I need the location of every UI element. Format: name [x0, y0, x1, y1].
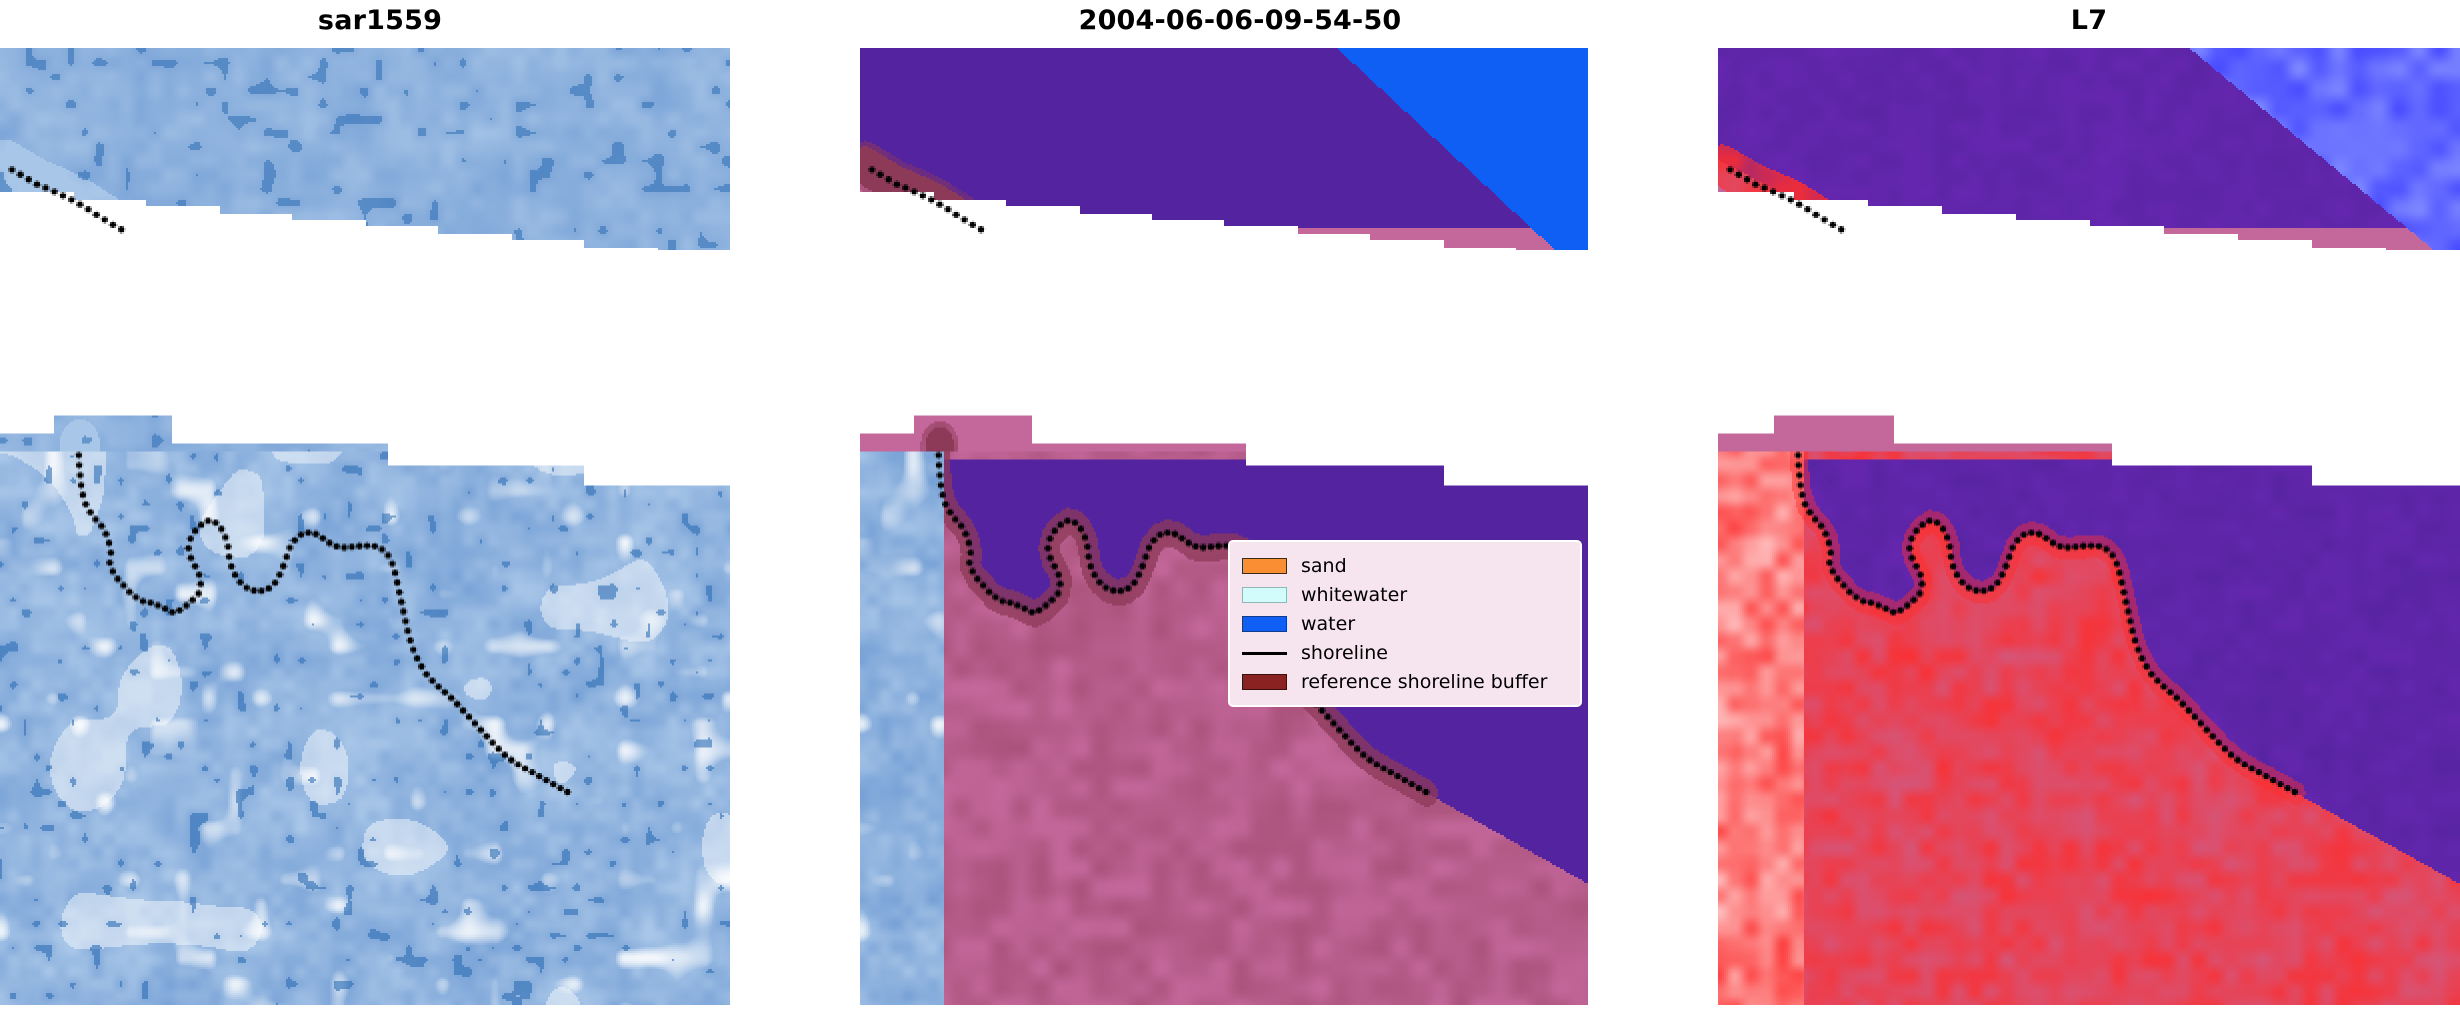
legend-item-water: water: [1242, 609, 1568, 638]
panel-title-l7: L7: [1718, 4, 2460, 38]
legend-swatch-reference-buffer-icon: [1242, 674, 1287, 690]
legend-label-water: water: [1301, 613, 1355, 635]
legend: sand whitewater water shoreline referenc…: [1228, 540, 1582, 707]
raster-canvas-classified: [860, 48, 1588, 1005]
raster-canvas-sar: [0, 48, 730, 1005]
legend-label-shoreline: shoreline: [1301, 642, 1388, 664]
legend-swatch-water-icon: [1242, 616, 1287, 632]
panel-title-classified: 2004-06-06-09-54-50: [860, 4, 1620, 38]
legend-item-sand: sand: [1242, 551, 1568, 580]
figure-root: sar1559 2004-06-06-09-54-50 L7 sand whit…: [0, 0, 2460, 1021]
legend-item-whitewater: whitewater: [1242, 580, 1568, 609]
legend-item-reference-buffer: reference shoreline buffer: [1242, 667, 1568, 696]
panel-classified: 2004-06-06-09-54-50: [860, 0, 1620, 1021]
panel-l7: L7: [1718, 0, 2460, 1021]
raster-sar: [0, 48, 730, 1005]
raster-canvas-l7: [1718, 48, 2460, 1005]
legend-swatch-whitewater-icon: [1242, 587, 1287, 603]
legend-label-whitewater: whitewater: [1301, 584, 1407, 606]
legend-swatch-sand-icon: [1242, 558, 1287, 574]
panel-sar: sar1559: [0, 0, 760, 1021]
raster-classified: [860, 48, 1588, 1005]
legend-label-reference-buffer: reference shoreline buffer: [1301, 671, 1547, 693]
legend-line-shoreline-icon: [1242, 645, 1287, 661]
panel-title-sar: sar1559: [0, 4, 760, 38]
legend-item-shoreline: shoreline: [1242, 638, 1568, 667]
raster-l7: [1718, 48, 2460, 1005]
legend-label-sand: sand: [1301, 555, 1347, 577]
